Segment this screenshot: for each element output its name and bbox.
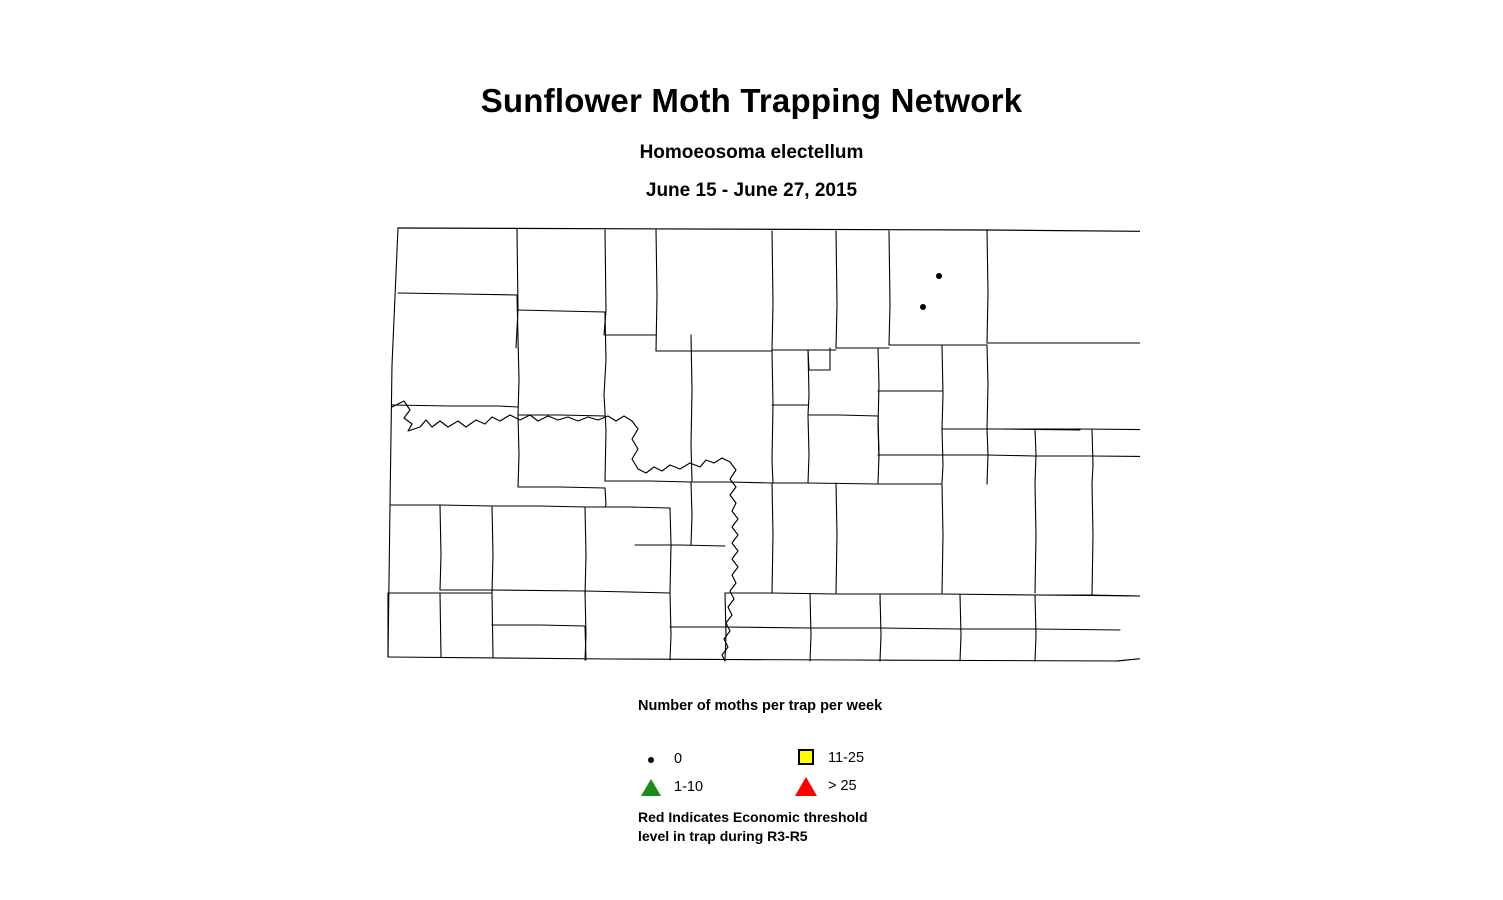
legend-label-1-10: 1-10 xyxy=(674,776,703,798)
map-legend: Number of moths per trap per week 0 1-10… xyxy=(630,698,960,858)
trap-site-marker[interactable] xyxy=(936,273,942,279)
page-title: Sunflower Moth Trapping Network xyxy=(0,82,1503,120)
legend-yellow-square-icon xyxy=(796,747,818,769)
species-subtitle: Homoeosoma electellum xyxy=(0,142,1503,164)
legend-green-triangle-icon xyxy=(640,776,662,798)
legend-dot-icon xyxy=(640,748,662,770)
date-range-label: June 15 - June 27, 2015 xyxy=(0,180,1503,202)
legend-note: Red Indicates Economic threshold level i… xyxy=(638,808,868,846)
legend-title: Number of moths per trap per week xyxy=(638,698,882,714)
trap-site-marker[interactable] xyxy=(920,304,926,310)
legend-red-triangle-icon xyxy=(795,775,817,797)
map-svg xyxy=(380,215,1140,685)
north-dakota-county-map xyxy=(380,215,1140,685)
legend-label-gt-25: > 25 xyxy=(828,775,857,797)
legend-label-11-25: 11-25 xyxy=(828,747,864,769)
county-boundaries xyxy=(388,228,1140,661)
legend-label-0: 0 xyxy=(674,748,682,770)
